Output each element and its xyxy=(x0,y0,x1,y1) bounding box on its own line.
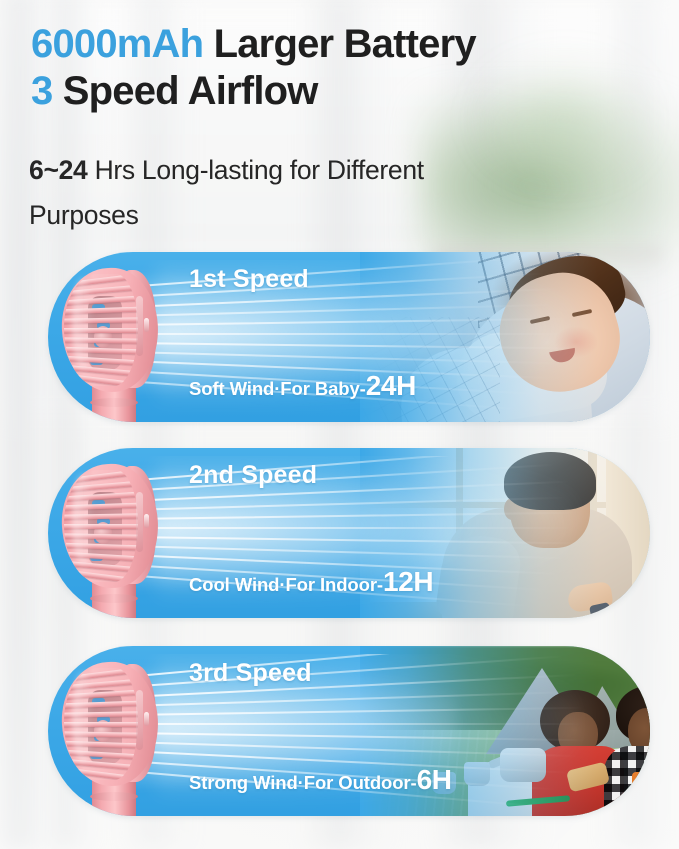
headline-line-1-rest: Larger Battery xyxy=(203,22,476,66)
panel-1-caption: Soft Wind·For Baby-24H xyxy=(189,370,416,402)
product-fan-3 xyxy=(58,658,166,816)
subheading-rest: Hrs Long-lasting for Different Purposes xyxy=(29,155,424,230)
subheading: 6~24 Hrs Long-lasting for Different Purp… xyxy=(29,148,499,238)
wristwatch xyxy=(589,602,611,618)
product-fan-1 xyxy=(58,264,166,422)
laptop-screen xyxy=(496,523,616,595)
person-hair xyxy=(540,690,610,752)
person-ear xyxy=(504,498,520,520)
panel-3-title: 3rd Speed xyxy=(189,659,312,688)
person-arm xyxy=(434,531,523,618)
baby-torso xyxy=(397,339,593,422)
fan-neck-ring xyxy=(90,398,138,407)
speed-panel-3rd: 3rd Speed Strong Wind·For Outdoor-6H xyxy=(48,646,650,816)
subheading-hours-range: 6~24 xyxy=(29,155,88,185)
headline-speed-count: 3 xyxy=(31,69,52,113)
panel-2-caption: Cool Wind·For Indoor-12H xyxy=(189,566,433,598)
headline-battery-capacity: 6000mAh xyxy=(31,22,203,66)
person-torso xyxy=(604,746,650,816)
window-mullion xyxy=(370,502,636,508)
speed-panel-1st: 1st Speed Soft Wind·For Baby-24H xyxy=(48,252,650,422)
laptop-keyboard xyxy=(488,588,628,610)
panel-1-title: 1st Speed xyxy=(189,265,309,294)
baby-head xyxy=(486,260,632,406)
desk-surface xyxy=(360,602,650,618)
food-item xyxy=(566,761,610,792)
tree-line xyxy=(360,646,650,738)
fan-power-button[interactable] xyxy=(144,318,149,332)
fan-neck-ring xyxy=(90,792,138,801)
person-hand xyxy=(566,581,613,613)
headline-line-2: 3 Speed Airflow xyxy=(31,68,655,115)
person-face xyxy=(558,712,598,758)
fan-neck-ring xyxy=(90,594,138,603)
person-hair xyxy=(504,452,596,510)
baby-arm xyxy=(450,317,612,422)
crib-net-upper xyxy=(478,252,598,328)
panel-2-caption-text: Cool Wind·For Indoor- xyxy=(189,574,383,595)
panel-2-runtime: 12H xyxy=(383,566,433,597)
person-head xyxy=(510,462,590,548)
panel-3-caption: Strong Wind·For Outdoor-6H xyxy=(189,764,452,796)
baby-hair xyxy=(501,252,631,343)
headline-block: 6000mAh Larger Battery 3 Speed Airflow xyxy=(31,21,655,115)
person-face xyxy=(628,708,650,756)
baby-eye-closed xyxy=(572,309,592,317)
product-fan-2 xyxy=(58,460,166,618)
person-torso xyxy=(532,746,624,816)
window-mullion xyxy=(588,448,597,618)
person-hair xyxy=(616,686,650,742)
panel-1-runtime: 24H xyxy=(366,370,416,401)
fan-power-button[interactable] xyxy=(144,514,149,528)
person-torso xyxy=(442,508,632,618)
speed-panel-2nd: 2nd Speed Cool Wind·For Indoor-12H xyxy=(48,448,650,618)
headline-line-2-rest: Speed Airflow xyxy=(52,69,317,113)
baby-smile xyxy=(549,348,577,364)
baby-hand xyxy=(541,320,595,378)
baby-pillow xyxy=(468,292,650,422)
headline-line-1: 6000mAh Larger Battery xyxy=(31,21,655,68)
cooler-box xyxy=(632,772,650,806)
panel-3-runtime: 6H xyxy=(417,764,452,795)
panel-1-caption-text: Soft Wind·For Baby- xyxy=(189,378,366,399)
picnic-table xyxy=(468,732,650,816)
baby-cheek xyxy=(554,326,598,358)
laptop xyxy=(488,522,622,610)
marketing-infographic: 6000mAh Larger Battery 3 Speed Airflow 6… xyxy=(0,0,679,849)
tent xyxy=(486,668,598,754)
tent xyxy=(570,686,640,748)
kettle xyxy=(500,748,546,782)
window-mullion xyxy=(456,448,463,618)
cup xyxy=(464,762,490,786)
fan-power-button[interactable] xyxy=(144,712,149,726)
panel-3-caption-text: Strong Wind·For Outdoor- xyxy=(189,772,417,793)
utensil xyxy=(506,795,570,807)
panel-2-title: 2nd Speed xyxy=(189,461,317,490)
window-frame xyxy=(606,448,650,618)
baby-eye-closed xyxy=(530,316,550,324)
